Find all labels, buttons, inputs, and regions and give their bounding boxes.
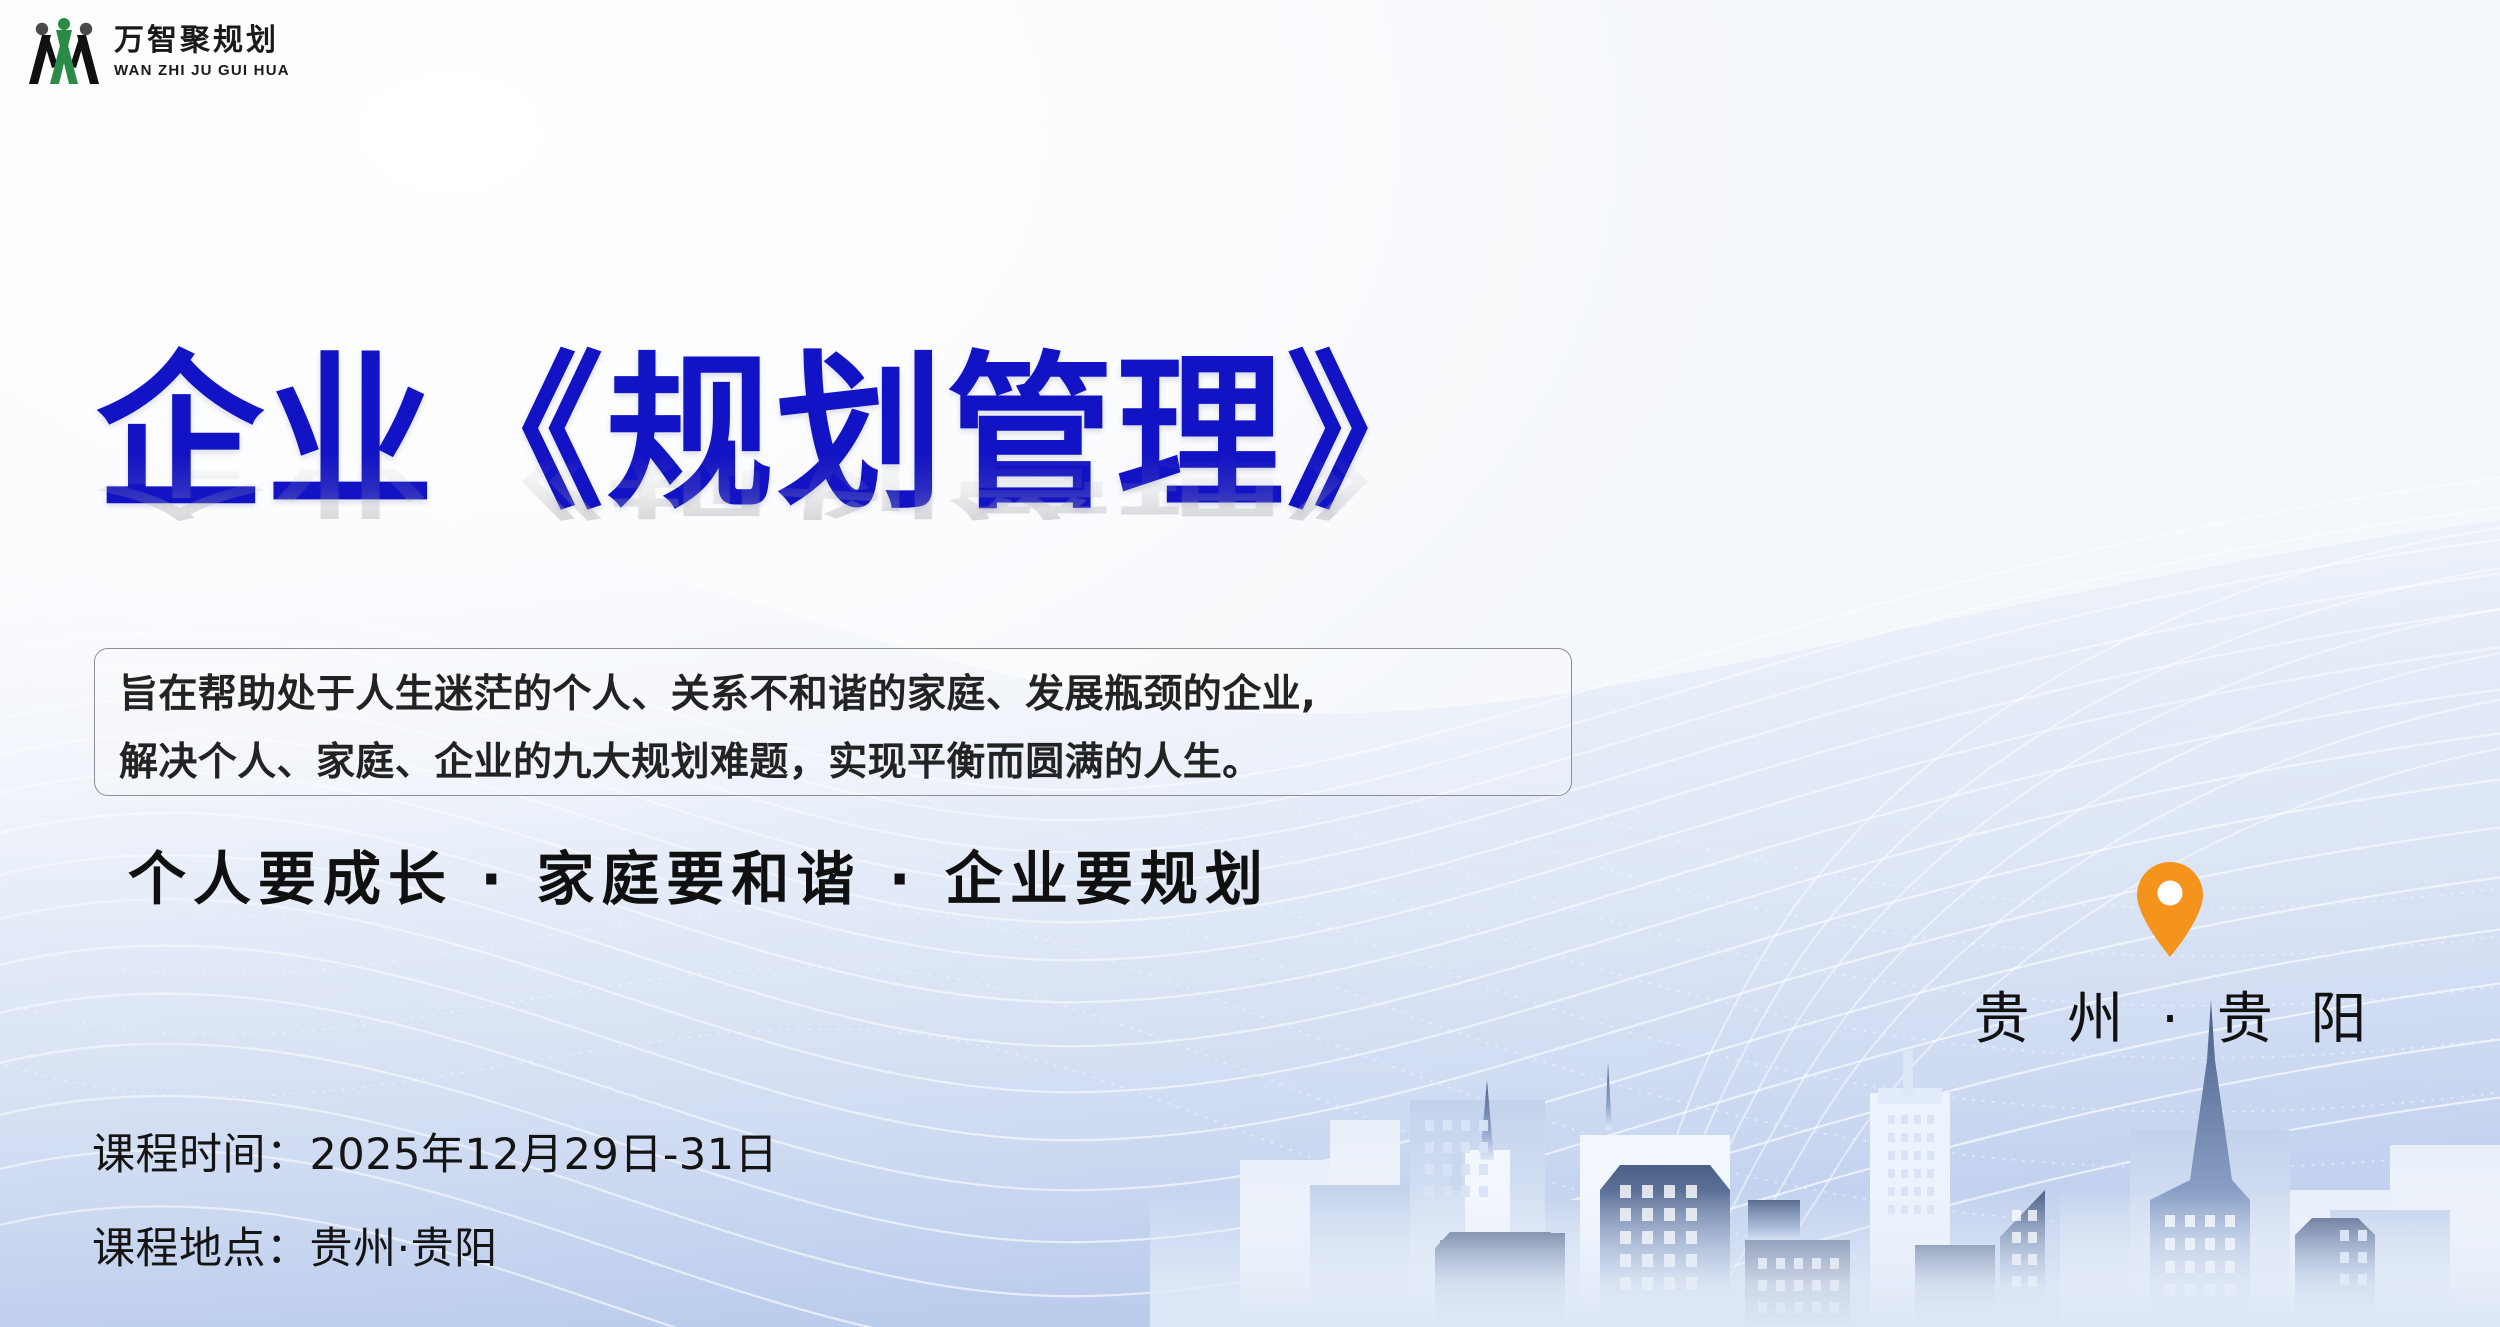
description-line-2: 解决个人、家庭、企业的九大规划难题，实现平衡而圆满的人生。 <box>119 729 1549 797</box>
location-text: 贵 州 · 贵 阳 <box>1955 974 2385 1055</box>
map-pin-icon <box>2133 860 2207 958</box>
three-people-group-icon <box>28 18 100 86</box>
brand-name-cn: 万智聚规划 <box>114 26 290 56</box>
course-place: 课程地点：贵州·贵阳 <box>92 1214 778 1276</box>
poster-canvas: 万智聚规划 WAN ZHI JU GUI HUA 企业《规划管理》 企业《规划管… <box>0 0 2500 1327</box>
course-time: 课程时间：2025年12月29日-31日 <box>92 1120 778 1182</box>
brand-logo: 万智聚规划 WAN ZHI JU GUI HUA <box>28 18 290 86</box>
description-box: 旨在帮助处于人生迷茫的个人、关系不和谐的家庭、发展瓶颈的企业, 解决个人、家庭、… <box>94 648 1572 796</box>
description-line-1: 旨在帮助处于人生迷茫的个人、关系不和谐的家庭、发展瓶颈的企业, <box>119 661 1549 729</box>
page-title: 企业《规划管理》 <box>96 340 1696 528</box>
brand-name-en: WAN ZHI JU GUI HUA <box>114 63 290 78</box>
slogan-text: 个人要成长 · 家庭要和谐 · 企业要规划 <box>128 832 1270 916</box>
course-info-block: 课程时间：2025年12月29日-31日 课程地点：贵州·贵阳 <box>92 1120 778 1276</box>
location-block: 贵 州 · 贵 阳 <box>1955 860 2385 1055</box>
